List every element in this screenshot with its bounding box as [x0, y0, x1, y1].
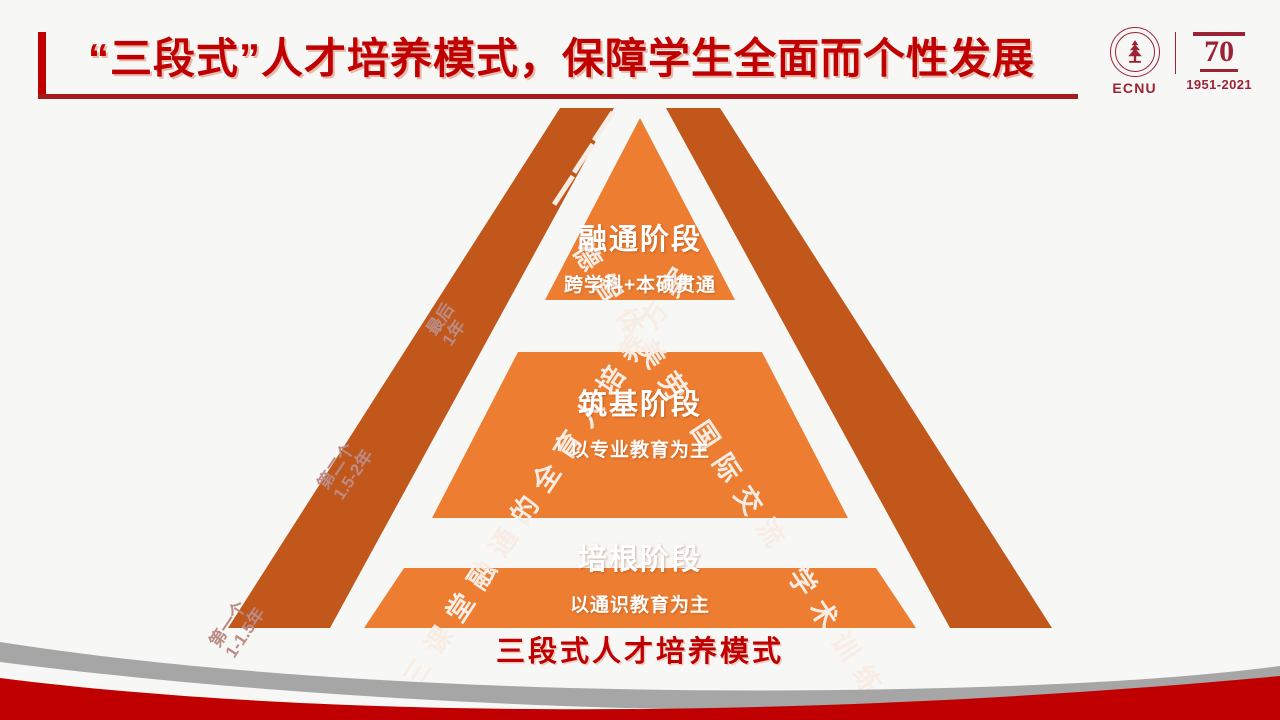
diagram-caption: 三段式人才培养模式	[0, 628, 1280, 670]
logo-anniversary-group: 70 1951-2021	[1186, 30, 1252, 92]
tier-shape-bottom	[364, 568, 916, 628]
ecnu-logo: ECNU 70 1951-2021	[1092, 24, 1252, 98]
anniversary-years: 1951-2021	[1186, 77, 1252, 92]
header-accent-underline	[38, 94, 1078, 99]
logo-divider	[1175, 32, 1177, 74]
logo-seal-group: ECNU	[1099, 27, 1171, 96]
header-accent-vertical-bar	[38, 32, 46, 98]
ecnu-seal-icon	[1110, 27, 1160, 77]
slide-header: “三段式”人才培养模式，保障学生全面而个性发展	[38, 26, 1078, 102]
page-title: “三段式”人才培养模式，保障学生全面而个性发展	[88, 26, 1078, 92]
anniversary-number: 70	[1191, 30, 1247, 74]
pyramid-diagram: 三课堂融通的全育人培养方案 德智体美劳 国际交流 学术训练 第一个 1-1.5年…	[0, 100, 1280, 645]
logo-abbreviation: ECNU	[1112, 80, 1156, 96]
slide-footer: 三段式人才培养模式	[0, 628, 1280, 720]
tier-shape-middle	[432, 352, 848, 518]
slide-canvas: “三段式”人才培养模式，保障学生全面而个性发展 ECNU 70	[0, 0, 1280, 720]
